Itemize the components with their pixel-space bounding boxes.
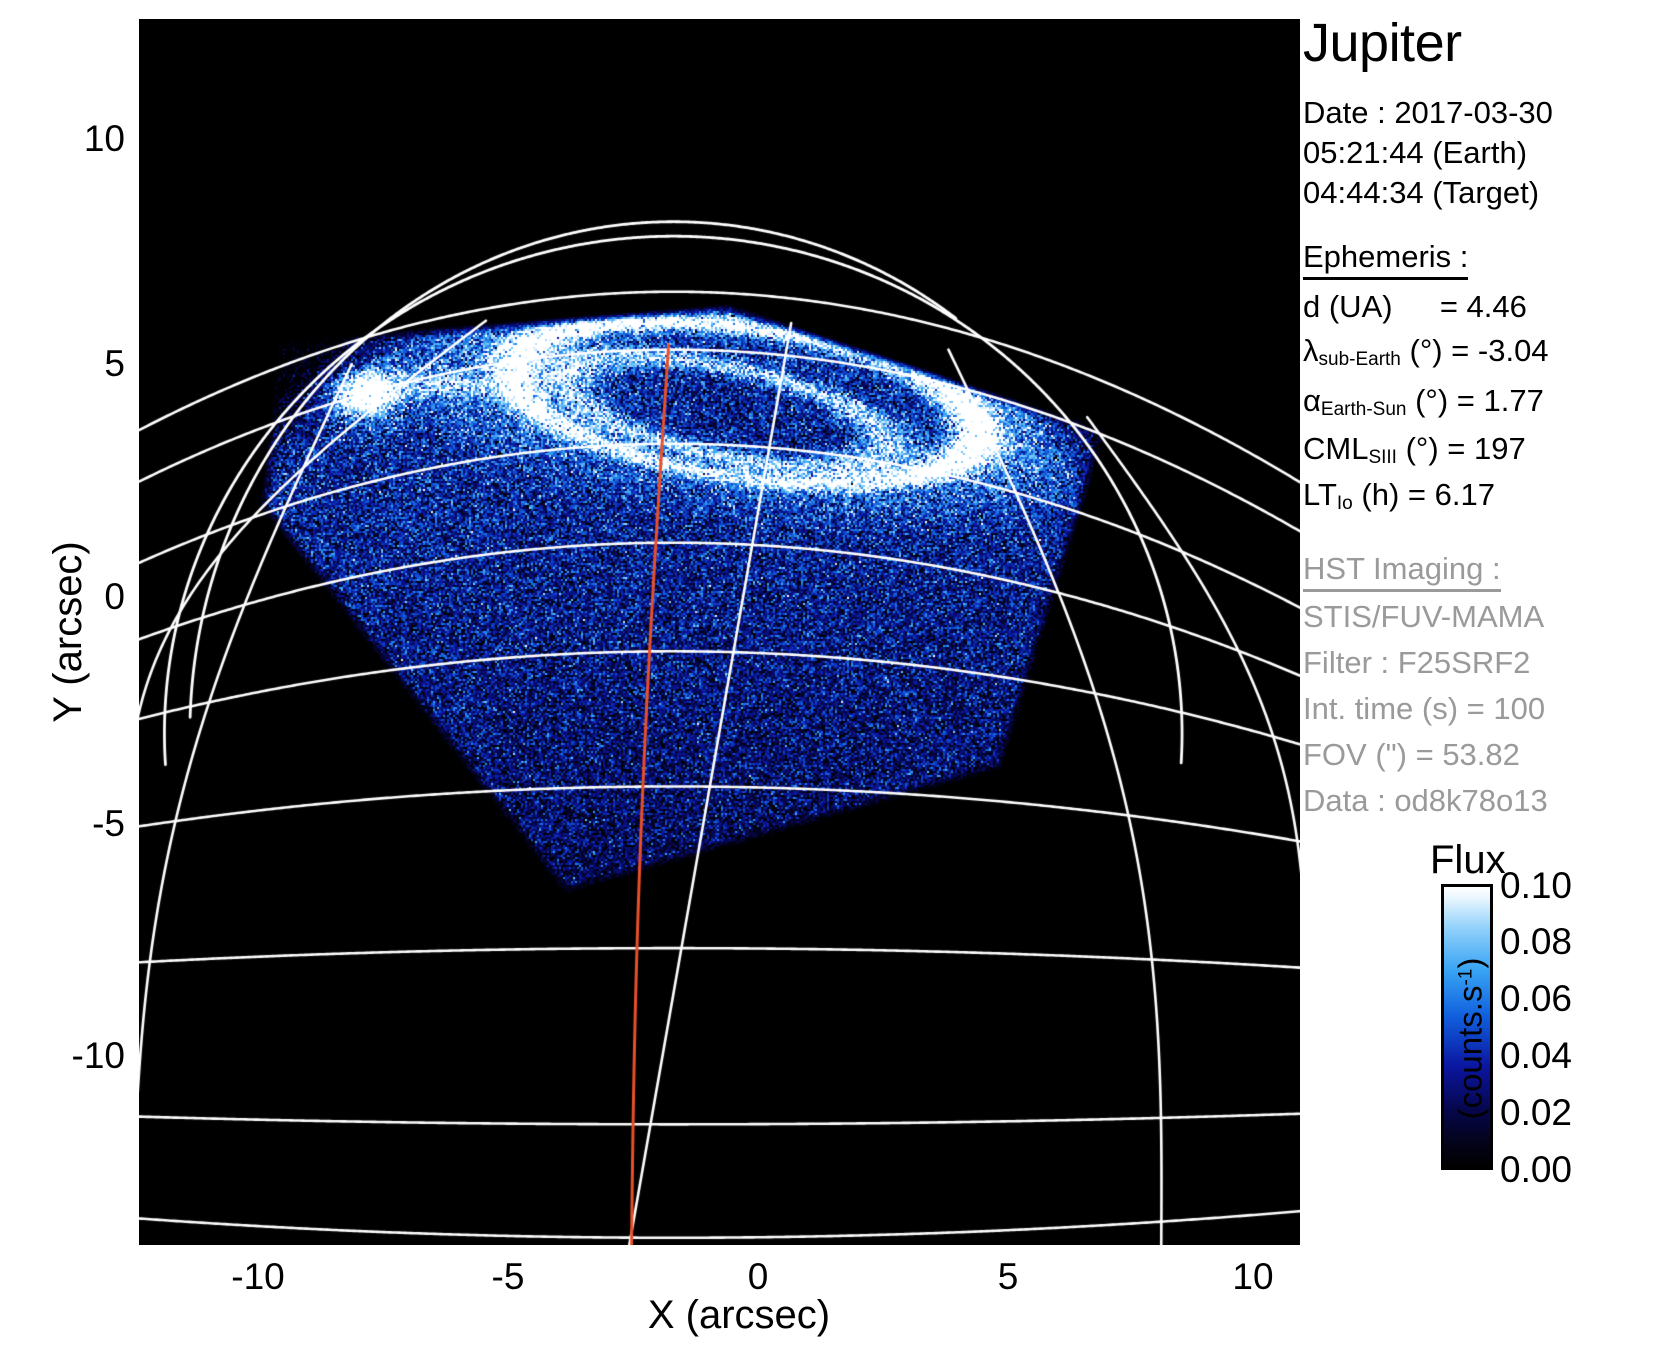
colorbar-units-label: (counts.s-1)	[1450, 889, 1487, 1189]
colorbar-units-exponent: -1	[1456, 969, 1477, 986]
x-tick-label: 10	[1193, 1258, 1313, 1295]
ephemeris-row-alpha: αEarth-Sun (°) = 1.77	[1303, 382, 1544, 428]
colorbar-tick-label: 0.02	[1500, 1094, 1572, 1131]
ephemeris-row-distance: d (UA) = 4.46	[1303, 288, 1527, 325]
ephemeris-value-lambda: = -3.04	[1451, 333, 1548, 368]
hst-imaging-heading-text: HST Imaging :	[1303, 550, 1501, 592]
ephemeris-heading-text: Ephemeris :	[1303, 238, 1468, 280]
colorbar-tick-label: 0.04	[1500, 1037, 1572, 1074]
x-tick-label: 0	[698, 1258, 818, 1295]
ephemeris-value-d: = 4.46	[1440, 289, 1527, 324]
observation-date: Date : 2017-03-30	[1303, 94, 1553, 131]
colorbar-tick-label: 0.00	[1500, 1151, 1572, 1188]
ephemeris-heading: Ephemeris :	[1303, 238, 1468, 280]
hst-fov: FOV (") = 53.82	[1303, 736, 1520, 773]
ephemeris-unit-lt: (h)	[1361, 477, 1399, 512]
ephemeris-value-lt: = 6.17	[1408, 477, 1495, 512]
colorbar-tick-label: 0.08	[1500, 923, 1572, 960]
x-axis-title: X (arcsec)	[579, 1295, 899, 1335]
ephemeris-value-alpha: = 1.77	[1457, 383, 1544, 418]
colorbar-title: Flux	[1430, 840, 1506, 880]
ephemeris-label-cml: CML	[1303, 431, 1368, 466]
x-tick-label: 5	[948, 1258, 1068, 1295]
x-tick-label: -10	[198, 1258, 318, 1295]
observation-time-earth: 05:21:44 (Earth)	[1303, 134, 1527, 171]
ephemeris-row-cml: CMLSIII (°) = 197	[1303, 430, 1526, 476]
hst-filter: Filter : F25SRF2	[1303, 644, 1530, 681]
hst-dataset-id: Data : od8k78o13	[1303, 782, 1548, 819]
colorbar-tick-label: 0.10	[1500, 867, 1572, 904]
ephemeris-sub-lt: Io	[1337, 493, 1353, 514]
ephemeris-unit-alpha: (°)	[1415, 383, 1448, 418]
hst-imaging-heading: HST Imaging :	[1303, 550, 1501, 592]
y-axis-title: Y (arcsec)	[48, 472, 88, 792]
ephemeris-label-alpha: α	[1303, 383, 1321, 418]
y-tick-label: 5	[15, 345, 125, 382]
y-tick-label: -5	[15, 805, 125, 842]
colorbar-units-text: (counts.s	[1452, 986, 1489, 1120]
observation-time-target: 04:44:34 (Target)	[1303, 174, 1539, 211]
ephemeris-unit-cml: (°)	[1406, 431, 1439, 466]
y-tick-label: 10	[15, 120, 125, 157]
ephemeris-row-lambda: λsub-Earth (°) = -3.04	[1303, 332, 1549, 378]
colorbar-units-close: )	[1452, 958, 1489, 969]
ephemeris-label-d: d (UA)	[1303, 289, 1393, 324]
jupiter-aurora-image	[139, 19, 1300, 1245]
ephemeris-sub-cml: SIII	[1368, 447, 1397, 468]
ephemeris-row-lt: LTIo (h) = 6.17	[1303, 476, 1495, 522]
ephemeris-value-cml: = 197	[1447, 431, 1525, 466]
colorbar-tick-label: 0.06	[1500, 980, 1572, 1017]
target-title: Jupiter	[1303, 14, 1462, 72]
y-tick-label: -10	[15, 1037, 125, 1074]
x-tick-label: -5	[448, 1258, 568, 1295]
ephemeris-unit-lambda: (°)	[1410, 333, 1443, 368]
hst-instrument: STIS/FUV-MAMA	[1303, 598, 1544, 635]
ephemeris-sub-alpha: Earth-Sun	[1321, 399, 1407, 420]
aurora-heatmap-canvas	[139, 19, 1300, 1245]
ephemeris-sub-lambda: sub-Earth	[1319, 349, 1401, 370]
ephemeris-label-lt: LT	[1303, 477, 1337, 512]
ephemeris-label-lambda: λ	[1303, 333, 1319, 368]
hst-integration-time: Int. time (s) = 100	[1303, 690, 1545, 727]
